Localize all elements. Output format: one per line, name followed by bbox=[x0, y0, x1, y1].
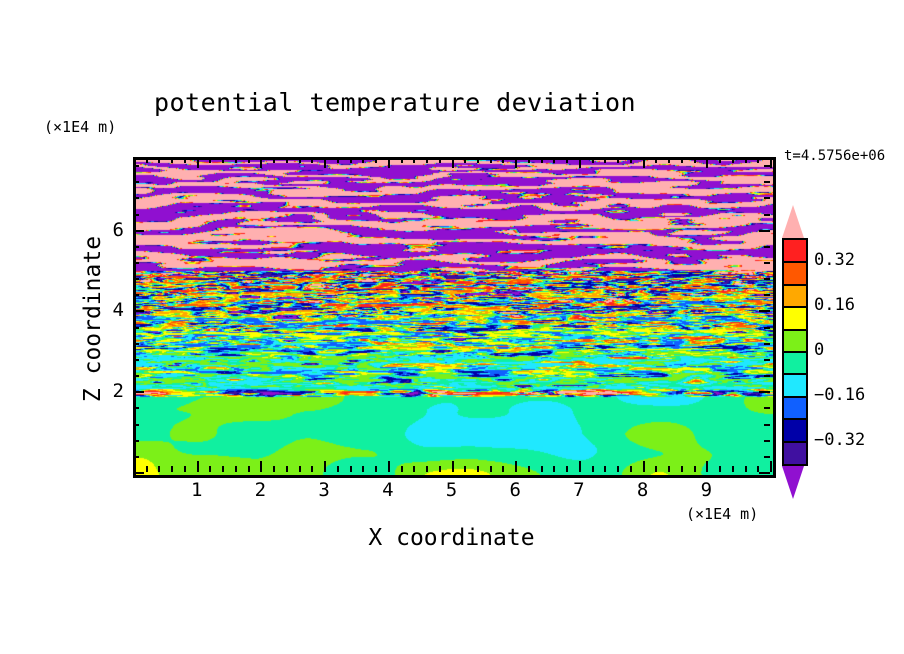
y-tick-left bbox=[133, 391, 144, 393]
colorbar-band bbox=[784, 262, 806, 284]
page-title: potential temperature deviation bbox=[0, 88, 790, 117]
colorbar-band-divider bbox=[784, 261, 806, 263]
y-tick-label: 6 bbox=[104, 219, 124, 241]
y-tick-left bbox=[133, 359, 139, 361]
colorbar-band-divider bbox=[784, 351, 806, 353]
x-axis-unit-label: (×1E4 m) bbox=[686, 505, 758, 523]
y-tick-right bbox=[764, 407, 770, 409]
colorbar-band bbox=[784, 397, 806, 419]
x-tick-label: 9 bbox=[701, 479, 712, 501]
colorbar-band-divider bbox=[784, 373, 806, 375]
x-tick-top bbox=[375, 157, 377, 163]
y-tick-left bbox=[133, 424, 139, 426]
x-tick-top bbox=[273, 157, 275, 163]
x-tick-top bbox=[579, 157, 581, 168]
x-tick-top bbox=[209, 157, 211, 163]
y-tick-right bbox=[764, 343, 770, 345]
x-tick-bottom bbox=[401, 466, 403, 472]
y-tick-left bbox=[133, 294, 139, 296]
x-tick-bottom bbox=[745, 466, 747, 472]
colorbar-band-divider bbox=[784, 306, 806, 308]
y-tick-left bbox=[133, 278, 139, 280]
x-tick-bottom bbox=[184, 466, 186, 472]
x-tick-top bbox=[515, 157, 517, 168]
x-tick-top bbox=[362, 157, 364, 163]
x-tick-top bbox=[719, 157, 721, 163]
x-tick-top bbox=[197, 157, 199, 168]
y-tick-right bbox=[764, 359, 770, 361]
colorbar-band bbox=[784, 285, 806, 307]
x-tick-bottom bbox=[681, 466, 683, 472]
colorbar-band-divider bbox=[784, 441, 806, 443]
y-tick-right bbox=[764, 197, 770, 199]
colorbar-tick-label: −0.32 bbox=[814, 430, 865, 450]
colorbar-band bbox=[784, 374, 806, 396]
x-tick-bottom bbox=[133, 461, 135, 472]
y-tick-right bbox=[764, 214, 770, 216]
x-tick-label: 2 bbox=[255, 479, 266, 501]
x-tick-bottom bbox=[299, 466, 301, 472]
x-tick-top bbox=[324, 157, 326, 168]
y-tick-label: 2 bbox=[104, 380, 124, 402]
x-tick-top bbox=[337, 157, 339, 163]
x-tick-top bbox=[541, 157, 543, 163]
heatmap-plot-area bbox=[133, 157, 776, 478]
y-tick-left bbox=[133, 343, 139, 345]
temperature-deviation-field bbox=[136, 160, 773, 475]
y-tick-right bbox=[764, 181, 770, 183]
y-tick-left bbox=[133, 472, 144, 474]
x-tick-bottom bbox=[413, 466, 415, 472]
x-tick-top bbox=[553, 157, 555, 163]
y-tick-right bbox=[759, 310, 770, 312]
y-tick-right bbox=[764, 262, 770, 264]
y-tick-left bbox=[133, 197, 139, 199]
x-tick-bottom bbox=[528, 466, 530, 472]
y-tick-right bbox=[759, 230, 770, 232]
x-tick-bottom bbox=[452, 461, 454, 472]
x-tick-top bbox=[171, 157, 173, 163]
x-tick-bottom bbox=[566, 466, 568, 472]
x-tick-top bbox=[388, 157, 390, 168]
colorbar-band-divider bbox=[784, 329, 806, 331]
x-tick-bottom bbox=[388, 461, 390, 472]
colorbar-band-divider bbox=[784, 418, 806, 420]
y-tick-left bbox=[133, 327, 139, 329]
y-tick-right bbox=[764, 440, 770, 442]
y-tick-right bbox=[764, 424, 770, 426]
x-tick-bottom bbox=[311, 466, 313, 472]
y-tick-left bbox=[133, 440, 139, 442]
y-axis-title: Z coordinate bbox=[80, 159, 106, 479]
y-tick-left bbox=[133, 375, 139, 377]
x-axis-title: X coordinate bbox=[133, 525, 770, 551]
x-tick-bottom bbox=[706, 461, 708, 472]
x-tick-label: 4 bbox=[382, 479, 393, 501]
x-tick-bottom bbox=[324, 461, 326, 472]
y-tick-right bbox=[759, 472, 770, 474]
x-tick-top bbox=[413, 157, 415, 163]
y-tick-right bbox=[764, 278, 770, 280]
x-tick-top bbox=[299, 157, 301, 163]
x-tick-top bbox=[464, 157, 466, 163]
x-tick-label: 6 bbox=[509, 479, 520, 501]
y-tick-left bbox=[133, 262, 139, 264]
y-tick-right bbox=[764, 246, 770, 248]
x-tick-bottom bbox=[694, 466, 696, 472]
colorbar-tick-label: −0.16 bbox=[814, 385, 865, 405]
x-tick-top bbox=[426, 157, 428, 163]
x-tick-bottom bbox=[375, 466, 377, 472]
colorbar-band bbox=[784, 240, 806, 262]
x-tick-bottom bbox=[553, 466, 555, 472]
x-tick-bottom bbox=[502, 466, 504, 472]
colorbar-tick-label: 0.32 bbox=[814, 250, 855, 270]
x-tick-bottom bbox=[515, 461, 517, 472]
y-tick-left bbox=[133, 181, 139, 183]
x-tick-top bbox=[643, 157, 645, 168]
x-tick-top bbox=[311, 157, 313, 163]
x-tick-bottom bbox=[579, 461, 581, 472]
x-tick-top bbox=[604, 157, 606, 163]
y-tick-left bbox=[133, 214, 139, 216]
x-tick-top bbox=[694, 157, 696, 163]
colorbar-band bbox=[784, 307, 806, 329]
x-tick-top bbox=[286, 157, 288, 163]
y-tick-left bbox=[133, 456, 139, 458]
y-tick-left bbox=[133, 407, 139, 409]
x-tick-bottom bbox=[719, 466, 721, 472]
y-tick-right bbox=[759, 391, 770, 393]
x-tick-bottom bbox=[541, 466, 543, 472]
y-tick-right bbox=[764, 375, 770, 377]
x-tick-bottom bbox=[248, 466, 250, 472]
x-tick-top bbox=[770, 157, 772, 168]
x-tick-bottom bbox=[286, 466, 288, 472]
x-tick-bottom bbox=[146, 466, 148, 472]
x-tick-top bbox=[706, 157, 708, 168]
x-tick-top bbox=[235, 157, 237, 163]
colorbar-band-divider bbox=[784, 284, 806, 286]
y-tick-label: 4 bbox=[104, 299, 124, 321]
timestamp-label: t=4.5756e+06 bbox=[784, 148, 885, 164]
x-tick-top bbox=[452, 157, 454, 168]
x-tick-top bbox=[757, 157, 759, 163]
x-tick-label: 7 bbox=[573, 479, 584, 501]
y-tick-right bbox=[764, 456, 770, 458]
x-tick-bottom bbox=[604, 466, 606, 472]
x-tick-top bbox=[248, 157, 250, 163]
x-tick-top bbox=[502, 157, 504, 163]
x-tick-top bbox=[158, 157, 160, 163]
x-tick-top bbox=[630, 157, 632, 163]
colorbar-over-arrow bbox=[782, 205, 804, 238]
figure-canvas: potential temperature deviation (×1E4 m)… bbox=[0, 0, 904, 654]
x-tick-bottom bbox=[350, 466, 352, 472]
y-tick-right bbox=[764, 327, 770, 329]
y-tick-right bbox=[764, 165, 770, 167]
y-tick-left bbox=[133, 246, 139, 248]
colorbar-band bbox=[784, 330, 806, 352]
x-tick-bottom bbox=[362, 466, 364, 472]
colorbar bbox=[782, 238, 808, 466]
x-tick-bottom bbox=[209, 466, 211, 472]
x-tick-top bbox=[401, 157, 403, 163]
x-tick-top bbox=[566, 157, 568, 163]
x-tick-bottom bbox=[668, 466, 670, 472]
x-tick-bottom bbox=[617, 466, 619, 472]
x-tick-top bbox=[592, 157, 594, 163]
x-tick-bottom bbox=[464, 466, 466, 472]
colorbar-tick-label: 0.16 bbox=[814, 295, 855, 315]
x-tick-bottom bbox=[643, 461, 645, 472]
colorbar-band-divider bbox=[784, 396, 806, 398]
x-tick-top bbox=[184, 157, 186, 163]
x-tick-bottom bbox=[171, 466, 173, 472]
x-tick-top bbox=[350, 157, 352, 163]
colorbar-band bbox=[784, 419, 806, 441]
y-tick-right bbox=[764, 294, 770, 296]
colorbar-band bbox=[784, 352, 806, 374]
x-tick-bottom bbox=[439, 466, 441, 472]
colorbar-tick-label: 0 bbox=[814, 340, 824, 360]
x-tick-top bbox=[477, 157, 479, 163]
x-tick-label: 5 bbox=[446, 479, 457, 501]
x-tick-bottom bbox=[592, 466, 594, 472]
x-tick-label: 8 bbox=[637, 479, 648, 501]
x-tick-top bbox=[681, 157, 683, 163]
x-tick-top bbox=[528, 157, 530, 163]
y-tick-left bbox=[133, 165, 139, 167]
x-tick-top bbox=[732, 157, 734, 163]
x-tick-bottom bbox=[477, 466, 479, 472]
y-axis-unit-label: (×1E4 m) bbox=[44, 118, 116, 136]
x-tick-top bbox=[439, 157, 441, 163]
x-tick-top bbox=[655, 157, 657, 163]
x-tick-bottom bbox=[222, 466, 224, 472]
x-tick-top bbox=[260, 157, 262, 168]
x-tick-top bbox=[146, 157, 148, 163]
x-tick-bottom bbox=[770, 461, 772, 472]
y-tick-left bbox=[133, 230, 144, 232]
x-tick-bottom bbox=[197, 461, 199, 472]
x-tick-top bbox=[617, 157, 619, 163]
x-tick-bottom bbox=[732, 466, 734, 472]
x-tick-bottom bbox=[273, 466, 275, 472]
y-tick-left bbox=[133, 310, 144, 312]
x-tick-top bbox=[745, 157, 747, 163]
colorbar-band bbox=[784, 442, 806, 464]
x-tick-bottom bbox=[235, 466, 237, 472]
x-tick-bottom bbox=[426, 466, 428, 472]
x-tick-bottom bbox=[158, 466, 160, 472]
x-tick-top bbox=[490, 157, 492, 163]
x-tick-bottom bbox=[490, 466, 492, 472]
x-tick-label: 1 bbox=[191, 479, 202, 501]
x-tick-top bbox=[222, 157, 224, 163]
x-tick-top bbox=[668, 157, 670, 163]
x-tick-bottom bbox=[655, 466, 657, 472]
x-tick-bottom bbox=[260, 461, 262, 472]
colorbar-under-arrow bbox=[782, 466, 804, 499]
x-tick-label: 3 bbox=[318, 479, 329, 501]
x-tick-bottom bbox=[337, 466, 339, 472]
x-tick-bottom bbox=[630, 466, 632, 472]
